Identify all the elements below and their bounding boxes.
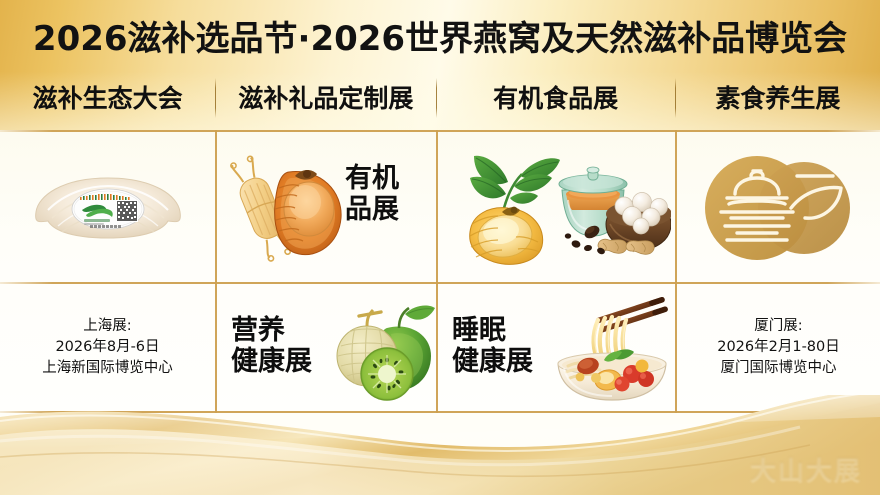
venue-xiamen: 厦门展: 2026年2月1-80日 厦门国际博览中心 xyxy=(677,284,880,411)
tab-vegetarian-health[interactable]: 素食养生展 xyxy=(676,77,880,119)
label-line-2: 健康展 xyxy=(452,347,533,378)
cell-label-organic: 有机 品展 xyxy=(345,164,399,226)
venue-line-2: 2026年8月-6日 xyxy=(55,338,159,357)
poster-root: 2026滋补选品节·2026世界燕窝及天然滋补品博览会 滋补生态大会 滋补礼品定… xyxy=(0,0,880,495)
subtitle-tabs: 滋补生态大会 滋补礼品定制展 有机食品展 素食养生展 xyxy=(0,72,880,124)
cell-shanghai-venue: 上海展: 2026年8月-6日 上海新国际博览中心 xyxy=(0,284,215,411)
title-row: 2026滋补选品节·2026世界燕窝及天然滋补品博览会 xyxy=(0,8,880,70)
venue-shanghai: 上海展: 2026年8月-6日 上海新国际博览中心 xyxy=(0,284,215,411)
label-line-1: 营养 xyxy=(231,316,312,347)
label-line-2: 健康展 xyxy=(231,347,312,378)
tab-label: 有机食品展 xyxy=(493,86,618,111)
cell-xiamen-venue: 厦门展: 2026年2月1-80日 厦门国际博览中心 xyxy=(677,284,880,411)
tab-ecology-conference[interactable]: 滋补生态大会 xyxy=(0,77,215,119)
noodle-bowl-chopsticks-icon xyxy=(550,294,674,406)
cell-birds-nest xyxy=(0,132,215,282)
poster-header: 2026滋补选品节·2026世界燕窝及天然滋补品博览会 滋补生态大会 滋补礼品定… xyxy=(0,0,880,130)
tab-label: 滋补礼品定制展 xyxy=(238,86,413,111)
cell-label-sleep: 睡眠 健康展 xyxy=(452,316,533,378)
tab-label: 素食养生展 xyxy=(715,86,840,111)
cell-vegetarian-logo xyxy=(677,132,880,282)
content-grid: 有机 品展 xyxy=(0,130,880,413)
dried-seafood-icon xyxy=(229,154,349,264)
golden-pod-with-leaves-icon xyxy=(450,146,565,271)
page-title: 2026滋补选品节·2026世界燕窝及天然滋补品博览会 xyxy=(33,22,847,56)
melon-kiwi-fruit-icon xyxy=(325,298,436,406)
cell-organic-products: 有机 品展 xyxy=(217,132,436,282)
tab-gift-customization[interactable]: 滋补礼品定制展 xyxy=(216,77,435,119)
cell-herbal-pod xyxy=(438,132,675,282)
cell-label-nutrition: 营养 健康展 xyxy=(231,316,312,378)
birds-nest-icon xyxy=(28,162,188,257)
label-line-1: 睡眠 xyxy=(452,316,533,347)
venue-line-1: 上海展: xyxy=(83,317,131,336)
tab-label: 滋补生态大会 xyxy=(33,86,183,111)
cell-sleep-health: 睡眠 健康展 xyxy=(438,284,675,411)
venue-line-3: 厦门国际博览中心 xyxy=(721,359,837,378)
gold-silk-wave xyxy=(0,395,880,495)
venue-line-1: 厦门展: xyxy=(754,317,802,336)
cell-nutrition-health: 营养 健康展 xyxy=(217,284,436,411)
tab-organic-food[interactable]: 有机食品展 xyxy=(437,77,675,119)
venue-line-3: 上海新国际博览中心 xyxy=(42,359,173,378)
venue-line-2: 2026年2月1-80日 xyxy=(717,338,840,357)
label-line-1: 有机 xyxy=(345,164,399,195)
golden-circular-emblem-icon xyxy=(701,154,856,262)
label-line-2: 品展 xyxy=(345,195,399,226)
